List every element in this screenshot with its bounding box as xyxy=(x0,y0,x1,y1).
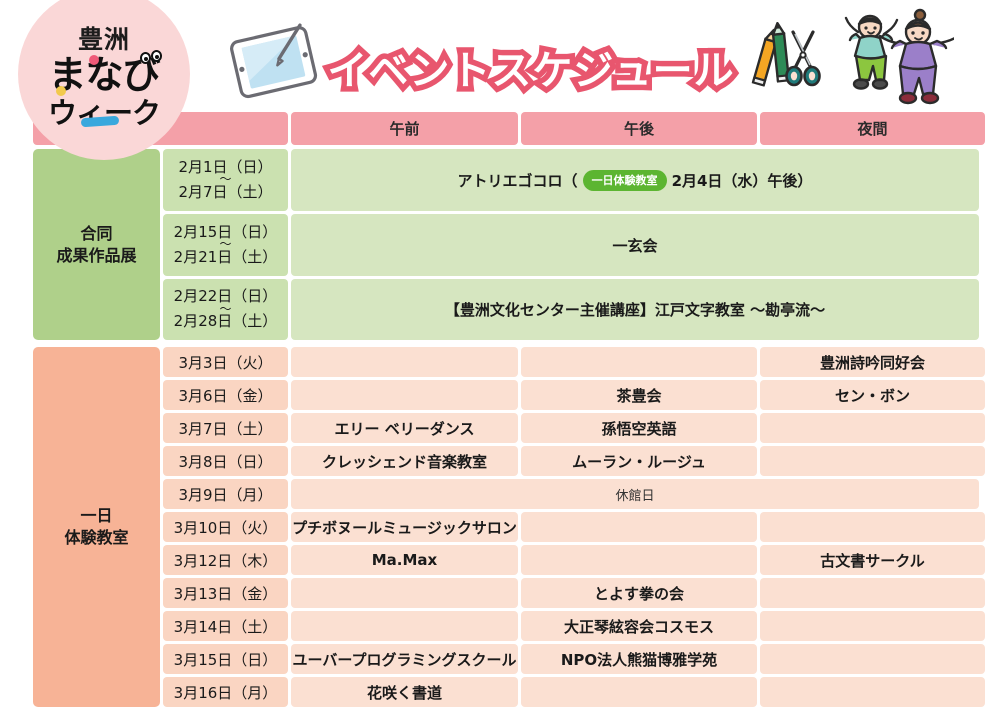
row-cell-afternoon xyxy=(521,512,757,542)
row-cell-evening xyxy=(760,677,985,707)
date-end: 2月21日（土） xyxy=(174,249,278,267)
logo-line2: まなび xyxy=(48,56,159,94)
row-cell-evening xyxy=(760,512,985,542)
row-date: 3月14日（土） xyxy=(163,611,288,641)
header-col-evening: 夜間 xyxy=(760,112,985,145)
table-row: 2月1日（日） 〜 2月7日（土） アトリエゴコロ（一日体験教室2月4日（水）午… xyxy=(163,149,979,211)
header-col-afternoon: 午後 xyxy=(521,112,757,145)
header-col-morning: 午前 xyxy=(291,112,518,145)
row-cell-evening xyxy=(760,644,985,674)
row-cell-afternoon: NPO法人熊猫博雅学苑 xyxy=(521,644,757,674)
content-prefix: アトリエゴコロ（ xyxy=(458,170,578,191)
table-row: 3月14日（土） 大正琴絃容会コスモス xyxy=(163,611,985,641)
section-one-day-class: 一日 体験教室 3月3日（火） 豊洲詩吟同好会 3月6日（金） 茶豊会 セン・ボ… xyxy=(33,347,973,707)
row-cell-morning: クレッシェンド音楽教室 xyxy=(291,446,518,476)
section-label-joint-exhibition: 合同 成果作品展 xyxy=(33,149,160,340)
section-label-line2: 成果作品展 xyxy=(56,245,136,267)
schedule-table: 午前 午後 夜間 合同 成果作品展 2月1日（日） 〜 2月7日（土） xyxy=(33,112,973,707)
page-title-text: イベントスケジュール xyxy=(327,38,734,96)
logo-line3: ウィーク xyxy=(48,99,160,128)
row-cell-afternoon xyxy=(521,677,757,707)
table-row: 3月13日（金） とよす拳の会 xyxy=(163,578,985,608)
row-cell-afternoon xyxy=(521,545,757,575)
row-cell-evening xyxy=(760,446,985,476)
row-date: 3月3日（火） xyxy=(163,347,288,377)
row-cell-afternoon: ムーラン・ルージュ xyxy=(521,446,757,476)
row-content-all-day: アトリエゴコロ（一日体験教室2月4日（水）午後） xyxy=(291,149,979,211)
section-label-line1: 一日 xyxy=(64,505,128,527)
logo-badge: 豊洲 まなび ウィーク xyxy=(18,0,190,160)
row-content-all-day: 一玄会 xyxy=(291,214,979,276)
event-schedule-page: 豊洲 まなび ウィーク xyxy=(0,0,1000,687)
table-row: 3月6日（金） 茶豊会 セン・ボン xyxy=(163,380,985,410)
row-cell-evening: 豊洲詩吟同好会 xyxy=(760,347,985,377)
row-cell-morning: エリー ベリーダンス xyxy=(291,413,518,443)
row-cell-morning xyxy=(291,611,518,641)
row-cell-closed: 休館日 xyxy=(291,479,979,509)
badge-one-day-class: 一日体験教室 xyxy=(583,170,667,191)
row-cell-evening xyxy=(760,578,985,608)
logo-dot-red-icon xyxy=(89,55,99,65)
row-date: 3月13日（金） xyxy=(163,578,288,608)
row-date: 3月8日（日） xyxy=(163,446,288,476)
row-cell-morning xyxy=(291,380,518,410)
row-cell-morning: プチボヌールミュージックサロン xyxy=(291,512,518,542)
row-cell-morning: ユーバープログラミングスクール xyxy=(291,644,518,674)
table-row: 3月10日（火） プチボヌールミュージックサロン xyxy=(163,512,985,542)
tablet-stylus-icon xyxy=(224,20,324,104)
row-date-range: 2月22日（日） 〜 2月28日（土） xyxy=(163,279,288,340)
section-label-line2: 体験教室 xyxy=(64,527,128,549)
row-date: 3月10日（火） xyxy=(163,512,288,542)
logo-dot-yellow-icon xyxy=(56,86,66,96)
row-cell-evening xyxy=(760,413,985,443)
row-cell-evening: 古文書サークル xyxy=(760,545,985,575)
row-date: 3月6日（金） xyxy=(163,380,288,410)
row-date-range: 2月15日（日） 〜 2月21日（土） xyxy=(163,214,288,276)
logo-swoosh-icon xyxy=(81,115,120,127)
date-end: 2月28日（土） xyxy=(174,313,278,331)
logo-eyes-icon xyxy=(140,50,166,64)
table-row: 2月15日（日） 〜 2月21日（土） 一玄会 xyxy=(163,214,979,276)
table-row: 3月8日（日） クレッシェンド音楽教室 ムーラン・ルージュ xyxy=(163,446,985,476)
row-date: 3月12日（木） xyxy=(163,545,288,575)
row-cell-afternoon: とよす拳の会 xyxy=(521,578,757,608)
row-cell-morning xyxy=(291,347,518,377)
row-cell-afternoon xyxy=(521,347,757,377)
table-row: 2月22日（日） 〜 2月28日（土） 【豊洲文化センター主催講座】江戸文字教室… xyxy=(163,279,979,340)
row-date: 3月7日（土） xyxy=(163,413,288,443)
row-cell-evening xyxy=(760,611,985,641)
section-joint-exhibition: 合同 成果作品展 2月1日（日） 〜 2月7日（土） アトリエゴコロ（一日体験教… xyxy=(33,149,973,340)
logo-line1: 豊洲 xyxy=(78,27,130,52)
row-date: 3月15日（日） xyxy=(163,644,288,674)
table-row-closed: 3月9日（月） 休館日 xyxy=(163,479,985,509)
row-cell-evening: セン・ボン xyxy=(760,380,985,410)
row-cell-morning: 花咲く書道 xyxy=(291,677,518,707)
row-cell-morning xyxy=(291,578,518,608)
section-label-line1: 合同 xyxy=(56,223,136,245)
pencils-scissors-icon xyxy=(743,22,821,104)
table-row: 3月16日（月） 花咲く書道 xyxy=(163,677,985,707)
table-row: 3月12日（木） Ma.Max 古文書サークル xyxy=(163,545,985,575)
row-cell-afternoon: 茶豊会 xyxy=(521,380,757,410)
content-suffix: 2月4日（水）午後） xyxy=(672,170,813,191)
row-date: 3月9日（月） xyxy=(163,479,288,509)
page-title: イベントスケジュール xyxy=(341,36,721,98)
row-cell-morning: Ma.Max xyxy=(291,545,518,575)
row-cell-afternoon: 孫悟空英語 xyxy=(521,413,757,443)
row-date: 3月16日（月） xyxy=(163,677,288,707)
date-end: 2月7日（土） xyxy=(178,184,272,202)
section-label-one-day-class: 一日 体験教室 xyxy=(33,347,160,707)
table-row: 3月3日（火） 豊洲詩吟同好会 xyxy=(163,347,985,377)
header-band: 豊洲 まなび ウィーク xyxy=(0,0,1000,112)
table-row: 3月7日（土） エリー ベリーダンス 孫悟空英語 xyxy=(163,413,985,443)
table-row: 3月15日（日） ユーバープログラミングスクール NPO法人熊猫博雅学苑 xyxy=(163,644,985,674)
row-cell-afternoon: 大正琴絃容会コスモス xyxy=(521,611,757,641)
row-content-all-day: 【豊洲文化センター主催講座】江戸文字教室 〜勘亭流〜 xyxy=(291,279,979,340)
two-people-dancing-icon xyxy=(824,8,954,108)
